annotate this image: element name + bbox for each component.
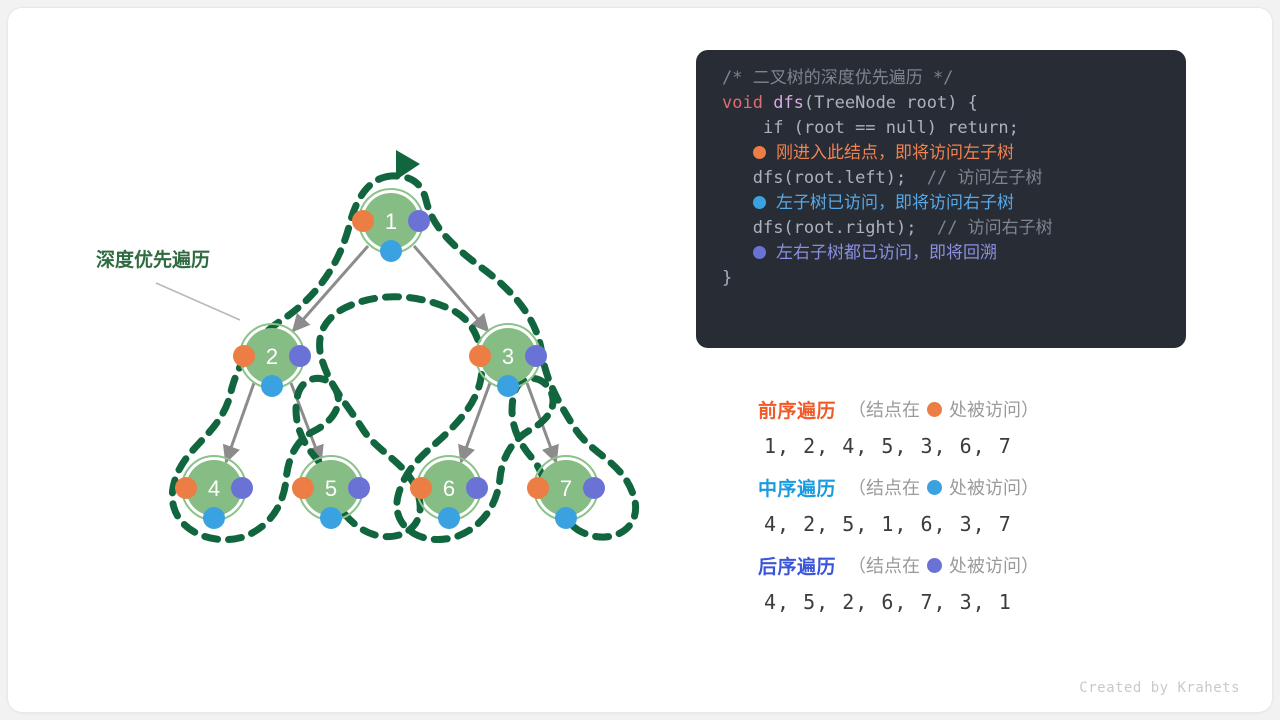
tree-nodes: 1 2 3	[175, 189, 605, 529]
inorder-title: 中序遍历	[758, 474, 836, 501]
code-call-left: dfs(root.left);	[753, 168, 907, 188]
code-line-dfs-left: dfs(root.left); // 访问左子树	[722, 166, 1160, 191]
node-4-dot-enter	[175, 477, 197, 499]
node-4-dot-exit	[231, 477, 253, 499]
postorder-caption-suffix: 处被访问）	[949, 552, 1039, 578]
code-comment-left: // 访问左子树	[927, 168, 1043, 188]
node-2-label: 2	[266, 344, 278, 369]
result-group-postorder: 后序遍历 （结点在 处被访问） 4, 5, 2, 6, 7, 3, 1	[758, 550, 1178, 614]
result-group-preorder: 前序遍历 （结点在 处被访问） 1, 2, 4, 5, 3, 6, 7	[758, 394, 1178, 458]
preorder-dot-icon	[927, 402, 942, 417]
credit-text: Created by Krahets	[1079, 680, 1240, 696]
edge-2-4	[226, 383, 254, 462]
node-6-dot-enter	[410, 477, 432, 499]
postorder-title: 后序遍历	[758, 552, 836, 579]
tree-node-4[interactable]: 4	[175, 456, 253, 529]
inorder-heading-row: 中序遍历 （结点在 处被访问）	[758, 472, 1178, 502]
preorder-caption-suffix: 处被访问）	[949, 396, 1039, 422]
inorder-caption-prefix: （结点在	[848, 474, 920, 500]
preorder-title: 前序遍历	[758, 396, 836, 423]
binary-tree-diagram: 深度优先遍历 1	[68, 128, 688, 568]
code-line-note-1: 刚进入此结点，即将访问左子树	[722, 141, 1160, 166]
code-dot-blue-icon	[753, 196, 766, 209]
code-close-brace: }	[722, 268, 732, 288]
traversal-results: 前序遍历 （结点在 处被访问） 1, 2, 4, 5, 3, 6, 7 中序遍历…	[758, 394, 1178, 628]
code-function-dfs: dfs	[773, 93, 804, 113]
node-7-label: 7	[560, 476, 572, 501]
node-6-dot-exit	[466, 477, 488, 499]
node-5-label: 5	[325, 476, 337, 501]
postorder-dot-icon	[927, 558, 942, 573]
node-3-dot-exit	[525, 345, 547, 367]
code-dot-orange-icon	[753, 146, 766, 159]
node-1-label: 1	[385, 209, 397, 234]
node-1-dot-inorder	[380, 240, 402, 262]
postorder-caption-prefix: （结点在	[848, 552, 920, 578]
node-2-dot-inorder	[261, 375, 283, 397]
inorder-dot-icon	[927, 480, 942, 495]
code-line-note-3: 左右子树都已访问，即将回溯	[722, 241, 1160, 266]
node-7-dot-inorder	[555, 507, 577, 529]
code-snippet-panel: /* 二叉树的深度优先遍历 */void dfs(TreeNode root) …	[696, 50, 1186, 348]
code-comment-right: // 访问右子树	[937, 218, 1053, 238]
code-line-comment-header: /* 二叉树的深度优先遍历 */	[722, 66, 1160, 91]
postorder-heading-row: 后序遍历 （结点在 处被访问）	[758, 550, 1178, 580]
code-call-right: dfs(root.right);	[753, 218, 917, 238]
preorder-sequence: 1, 2, 4, 5, 3, 6, 7	[758, 434, 1178, 458]
figure-card: 深度优先遍历 1	[8, 8, 1272, 712]
code-line-note-2: 左子树已访问，即将访问右子树	[722, 191, 1160, 216]
postorder-sequence: 4, 5, 2, 6, 7, 3, 1	[758, 590, 1178, 614]
code-signature-rest: (TreeNode root) {	[804, 93, 978, 113]
node-3-dot-inorder	[497, 375, 519, 397]
code-line-signature: void dfs(TreeNode root) {	[722, 91, 1160, 116]
code-note-3: 左右子树都已访问，即将回溯	[776, 243, 997, 263]
dfs-annotation: 深度优先遍历	[96, 248, 240, 320]
preorder-caption-prefix: （结点在	[848, 396, 920, 422]
code-dot-purple-icon	[753, 246, 766, 259]
node-7-dot-enter	[527, 477, 549, 499]
node-7-dot-exit	[583, 477, 605, 499]
node-5-dot-exit	[348, 477, 370, 499]
tree-node-6[interactable]: 6	[410, 456, 488, 529]
node-3-label: 3	[502, 344, 514, 369]
node-2-dot-exit	[289, 345, 311, 367]
code-guard-text: if (root == null) return;	[763, 118, 1019, 138]
node-4-label: 4	[208, 476, 220, 501]
node-6-label: 6	[443, 476, 455, 501]
node-2-dot-enter	[233, 345, 255, 367]
annotation-leader-line	[156, 283, 240, 320]
page-root: 深度优先遍历 1	[0, 0, 1280, 720]
code-line-guard: if (root == null) return;	[722, 116, 1160, 141]
node-6-dot-inorder	[438, 507, 460, 529]
inorder-caption-suffix: 处被访问）	[949, 474, 1039, 500]
code-comment-header: /* 二叉树的深度优先遍历 */	[722, 68, 953, 88]
result-group-inorder: 中序遍历 （结点在 处被访问） 4, 2, 5, 1, 6, 3, 7	[758, 472, 1178, 536]
dfs-annotation-label: 深度优先遍历	[96, 248, 210, 271]
code-keyword-void: void	[722, 93, 763, 113]
postorder-caption: （结点在 处被访问）	[848, 552, 1039, 578]
code-note-2: 左子树已访问，即将访问右子树	[776, 193, 1014, 213]
tree-node-5[interactable]: 5	[292, 456, 370, 529]
node-5-dot-enter	[292, 477, 314, 499]
code-line-close: }	[722, 266, 1160, 291]
node-4-dot-inorder	[203, 507, 225, 529]
inorder-caption: （结点在 处被访问）	[848, 474, 1039, 500]
preorder-heading-row: 前序遍历 （结点在 处被访问）	[758, 394, 1178, 424]
code-line-dfs-right: dfs(root.right); // 访问右子树	[722, 216, 1160, 241]
node-5-dot-inorder	[320, 507, 342, 529]
inorder-sequence: 4, 2, 5, 1, 6, 3, 7	[758, 512, 1178, 536]
node-1-dot-enter	[352, 210, 374, 232]
edge-1-3	[414, 246, 488, 331]
preorder-caption: （结点在 处被访问）	[848, 396, 1039, 422]
code-note-1: 刚进入此结点，即将访问左子树	[776, 143, 1014, 163]
node-3-dot-enter	[469, 345, 491, 367]
node-1-dot-exit	[408, 210, 430, 232]
